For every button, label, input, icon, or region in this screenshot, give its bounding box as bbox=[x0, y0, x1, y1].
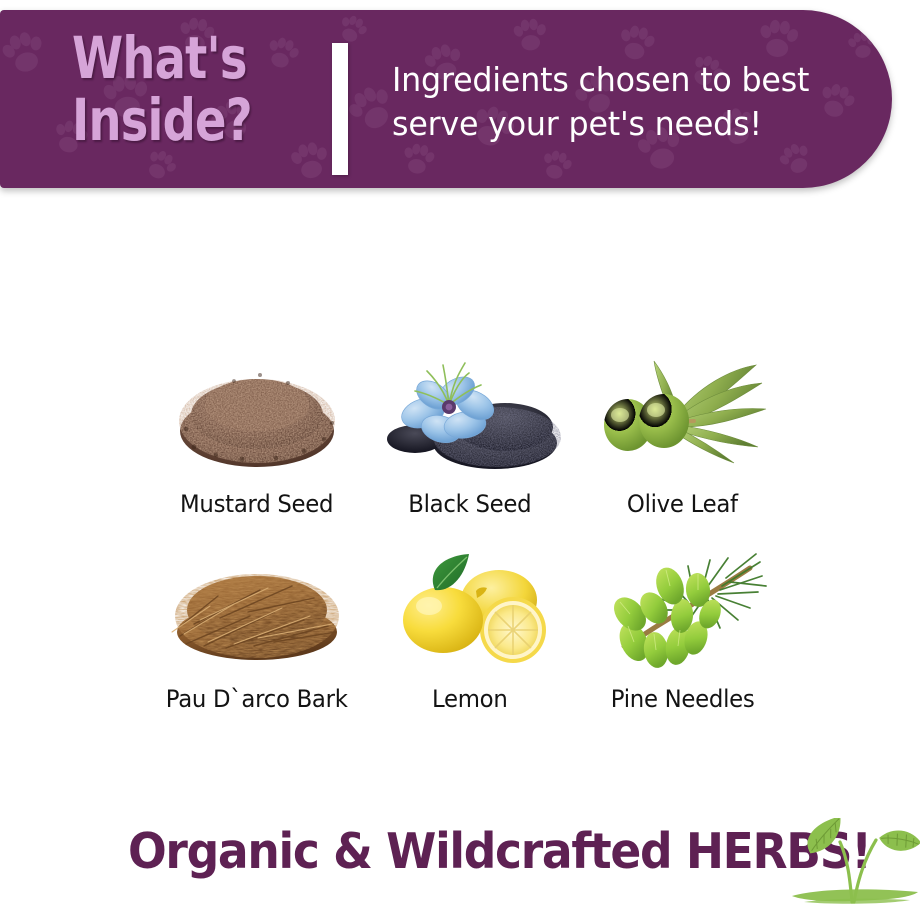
lemon-whole-and-half-image bbox=[375, 540, 565, 672]
ingredient-label: Pau D`arco Bark bbox=[166, 686, 348, 712]
ingredient-item-olive-leaf: Olive Leaf bbox=[576, 322, 789, 517]
headline-whats-inside: What's Inside? bbox=[72, 27, 276, 151]
header-banner-content: What's Inside? Ingredients chosen to bes… bbox=[0, 10, 892, 188]
ingredient-row: Mustard Seed bbox=[150, 322, 790, 517]
footer-tagline: Organic & Wildcrafted HERBS! bbox=[128, 822, 871, 882]
pine-needle-branch-image bbox=[588, 540, 778, 672]
ingredient-label: Pine Needles bbox=[611, 686, 755, 712]
ingredient-item-pine-needles: Pine Needles bbox=[576, 517, 789, 712]
green-sprout-with-grass-graphic-icon bbox=[790, 818, 920, 904]
ingredient-label: Lemon bbox=[432, 686, 508, 712]
green-olives-with-leaves-image bbox=[588, 345, 778, 477]
header-banner-background: What's Inside? Ingredients chosen to bes… bbox=[0, 10, 892, 188]
pau-darco-bark-shavings-image bbox=[162, 540, 352, 672]
ingredient-item-black-seed: Black Seed bbox=[363, 322, 576, 517]
promo-graphic-page: What's Inside? Ingredients chosen to bes… bbox=[0, 0, 922, 906]
ingredient-item-pau-darco-bark: Pau D`arco Bark bbox=[150, 517, 363, 712]
ingredient-item-lemon: Lemon bbox=[363, 517, 576, 712]
ingredient-item-mustard-seed: Mustard Seed bbox=[150, 322, 363, 517]
header-banner: What's Inside? Ingredients chosen to bes… bbox=[0, 10, 892, 188]
ingredient-grid: Mustard Seed bbox=[150, 322, 790, 712]
black-seed-with-nigella-flower-image bbox=[375, 345, 565, 477]
header-divider-bar bbox=[332, 43, 348, 175]
ingredient-label: Olive Leaf bbox=[627, 491, 738, 517]
ingredient-label: Black Seed bbox=[408, 491, 531, 517]
mustard-seed-pile-image bbox=[162, 345, 352, 477]
ingredient-row: Pau D`arco Bark bbox=[150, 517, 790, 712]
header-subheadline: Ingredients chosen to best serve your pe… bbox=[392, 58, 853, 146]
ingredient-label: Mustard Seed bbox=[180, 491, 333, 517]
footer-banner: Organic & Wildcrafted HERBS! bbox=[0, 812, 922, 906]
